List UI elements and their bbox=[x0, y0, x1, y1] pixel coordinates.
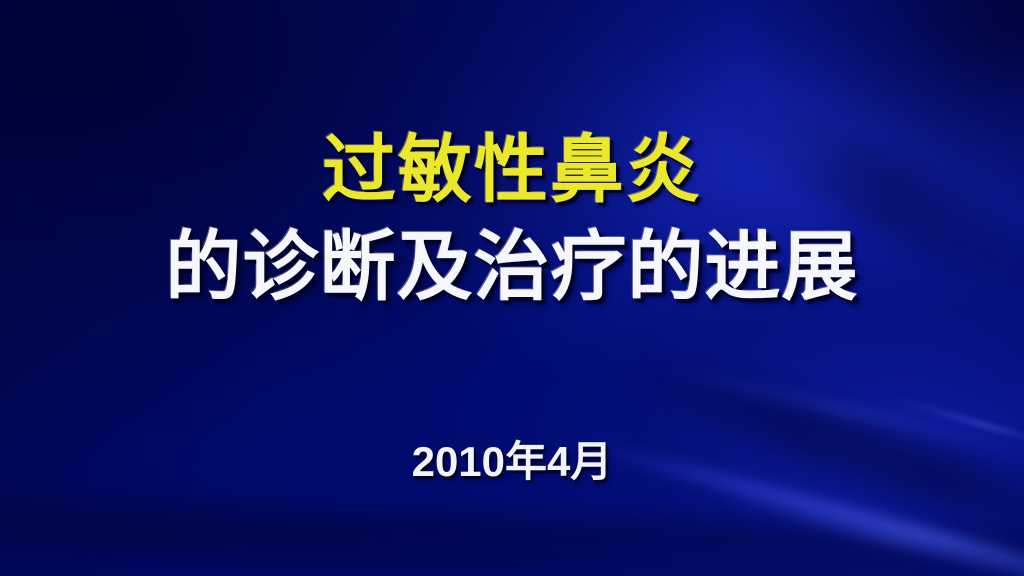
slide-title-secondary: 的诊断及治疗的进展 bbox=[0, 224, 1024, 310]
slide-date: 2010年4月 bbox=[0, 437, 1024, 487]
slide-text-block: 过敏性鼻炎 的诊断及治疗的进展 2010年4月 bbox=[0, 0, 1024, 576]
presentation-slide: 过敏性鼻炎 的诊断及治疗的进展 2010年4月 bbox=[0, 0, 1024, 576]
slide-title-primary: 过敏性鼻炎 bbox=[0, 128, 1024, 212]
